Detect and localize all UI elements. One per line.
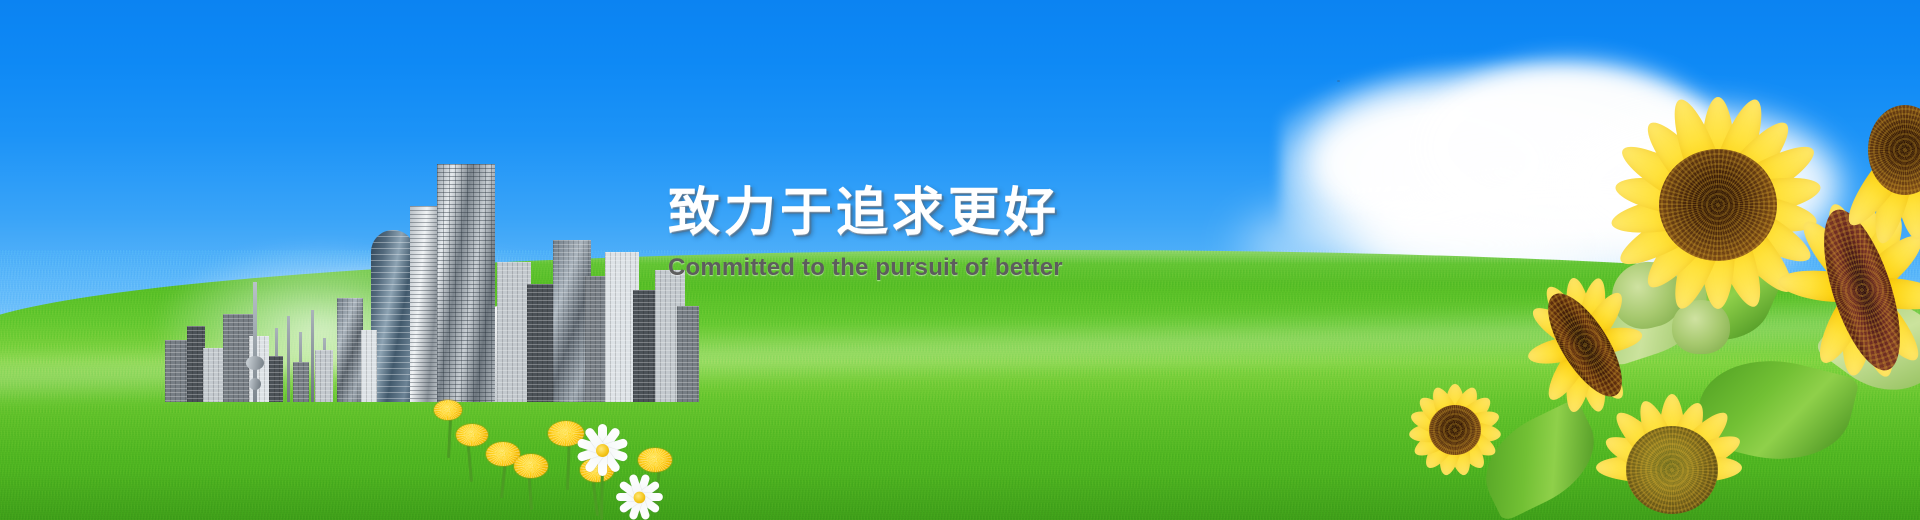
residential-tower	[437, 164, 495, 402]
hero-banner: 致力于追求更好 Committed to the pursuit of bett…	[0, 0, 1920, 520]
building	[203, 348, 225, 402]
city-skyline	[165, 137, 685, 402]
tv-tower-sphere-icon	[246, 356, 264, 370]
daisy-icon	[584, 432, 620, 468]
building	[293, 362, 309, 402]
building	[337, 298, 363, 402]
building	[315, 350, 333, 402]
sunflower-center	[1626, 426, 1718, 514]
building	[677, 306, 699, 402]
cylindrical-tower	[371, 230, 415, 402]
sunflower-center	[1659, 149, 1777, 261]
daisy-center	[596, 444, 609, 457]
banner-copy: 致力于追求更好 Committed to the pursuit of bett…	[668, 186, 1308, 282]
building	[269, 356, 283, 402]
building	[361, 330, 377, 402]
dandelion-icon	[514, 454, 548, 478]
tv-tower-sphere-icon	[249, 378, 261, 390]
daisy-center	[633, 491, 645, 503]
dandelion-icon	[434, 400, 462, 420]
dandelion-icon	[456, 424, 488, 446]
sunflower-center	[1429, 405, 1481, 455]
daisy-icon	[624, 482, 655, 513]
dandelion-icon	[638, 448, 672, 472]
bird-speck-icon	[1337, 80, 1340, 82]
antenna-icon	[287, 316, 290, 402]
building	[497, 262, 531, 402]
antenna-icon	[311, 310, 314, 402]
banner-subline: Committed to the pursuit of better	[668, 254, 1308, 282]
banner-headline: 致力于追求更好	[668, 186, 1308, 241]
